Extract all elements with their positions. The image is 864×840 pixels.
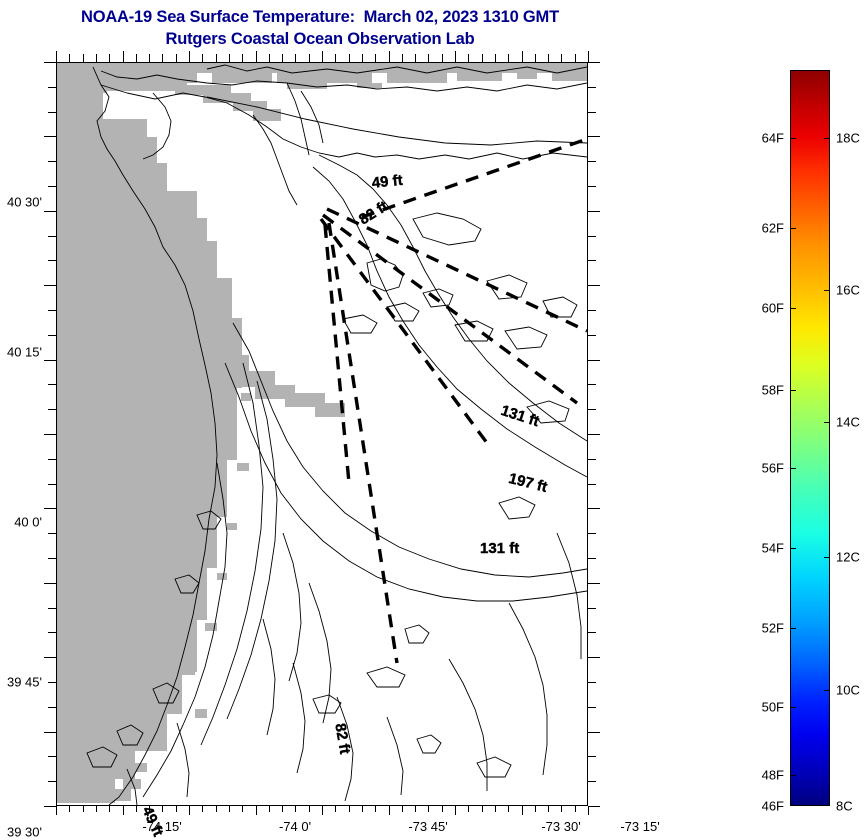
axis-tick [162,54,163,62]
axis-tick [44,657,56,658]
colorbar-tick [824,422,830,423]
page-subtitle: Rutgers Coastal Ocean Observation Lab [0,28,640,50]
axis-tick [48,310,56,311]
y-axis-label: 40 15' [0,345,42,360]
colorbar-tick [824,290,830,291]
colorbar-tick [790,775,796,776]
axis-tick [48,533,56,534]
colorbar-label-fahrenheit: 46F [762,799,784,814]
axis-tick [48,632,56,633]
colorbar-label-fahrenheit: 64F [762,131,784,146]
axis-tick [48,260,56,261]
axis-tick [588,707,596,708]
axis-tick [495,54,496,62]
axis-tick [48,186,56,187]
axis-tick [588,186,596,187]
axis-tick [69,806,70,812]
axis-tick [176,54,177,62]
axis-tick [442,54,443,62]
axis-tick [588,260,596,261]
axis-tick [561,806,562,812]
colorbar-label-fahrenheit: 50F [762,700,784,715]
axis-tick [508,54,509,62]
axis-tick [548,54,549,62]
axis-tick [588,161,596,162]
axis-tick [48,161,56,162]
axis-tick [295,54,296,62]
axis-tick [455,806,456,815]
axis-tick [269,54,270,62]
colorbar-label-fahrenheit: 56F [762,461,784,476]
axis-tick [162,806,163,812]
axis-tick [588,657,600,658]
axis-tick [83,806,84,812]
axis-tick [48,608,56,609]
axis-tick [468,54,469,62]
axis-tick [256,806,257,815]
axis-tick [44,434,56,435]
axis-tick [588,508,600,509]
axis-tick [535,54,536,62]
axis-tick [402,54,403,62]
axis-tick [522,806,523,815]
axis-tick [229,54,230,62]
colorbar-label-fahrenheit: 58F [762,383,784,398]
axis-tick [44,136,56,137]
axis-tick [176,806,177,812]
page-title: NOAA-19 Sea Surface Temperature: March 0… [0,6,640,28]
axis-tick [588,732,600,733]
axis-tick [48,87,56,88]
colorbar-label-celsius: 12C [836,550,860,565]
axis-tick [389,806,390,815]
colorbar-label-celsius: 18C [836,131,860,146]
axis-tick [375,806,376,812]
axis-tick [216,54,217,62]
axis-tick [309,54,310,62]
axis-tick [415,54,416,62]
axis-tick [588,310,596,311]
colorbar-legend[interactable]: 64F62F60F58F56F54F52F50F48F46F 18C16C14C… [790,70,830,806]
axis-tick [588,112,596,113]
axis-tick [56,806,57,815]
axis-tick [322,51,323,62]
colorbar-tick [790,308,796,309]
axis-tick [44,211,56,212]
colorbar-tick [790,468,796,469]
axis-tick [44,285,56,286]
screenshot-root: NOAA-19 Sea Surface Temperature: March 0… [0,0,864,832]
axis-tick [48,484,56,485]
axis-tick [588,409,596,410]
axis-tick [282,54,283,62]
axis-tick [415,806,416,812]
y-axis-label: 39 30' [0,825,42,840]
axis-tick [588,484,596,485]
axis-tick [588,608,596,609]
axis-tick [362,806,363,812]
axis-tick [482,54,483,62]
axis-tick [482,806,483,812]
colorbar-label-celsius: 10C [836,683,860,698]
axis-tick [48,335,56,336]
y-axis-label: 40 0' [0,515,42,530]
axis-tick [575,54,576,62]
axis-tick [83,54,84,62]
axis-tick [44,806,56,807]
colorbar-tick [790,628,796,629]
axis-tick [202,54,203,62]
axis-tick [229,806,230,812]
axis-tick [588,533,596,534]
axis-tick [256,51,257,62]
axis-tick [123,806,124,815]
chart-title-block: NOAA-19 Sea Surface Temperature: March 0… [0,6,640,50]
axis-tick [588,236,596,237]
axis-tick [123,51,124,62]
axis-tick [575,806,576,812]
axis-tick [44,62,56,63]
axis-tick [362,54,363,62]
depth-contour-label: 49 ft [371,172,403,192]
colorbar-label-celsius: 16C [836,283,860,298]
axis-tick [588,384,596,385]
axis-tick [189,806,190,815]
axis-tick [322,806,323,815]
colorbar-tick [790,548,796,549]
colorbar-label-fahrenheit: 60F [762,301,784,316]
axis-tick [309,806,310,812]
axis-tick [588,285,600,286]
colorbar-tick [824,690,830,691]
sst-map[interactable] [56,62,588,806]
axis-tick [588,62,600,63]
colorbar-label-celsius: 8C [836,799,853,814]
axis-tick [48,459,56,460]
axis-tick [242,54,243,62]
axis-tick [588,87,596,88]
axis-tick [588,136,600,137]
axis-tick [588,335,596,336]
axis-tick [588,632,596,633]
axis-tick [588,781,596,782]
axis-tick [96,806,97,812]
axis-tick [48,682,56,683]
axis-tick [335,806,336,812]
map-canvas [57,63,587,805]
axis-tick [468,806,469,812]
axis-tick [442,806,443,812]
axis-tick [48,707,56,708]
axis-tick [189,51,190,62]
axis-tick [588,459,596,460]
axis-tick [44,732,56,733]
axis-tick [202,806,203,812]
axis-tick [508,806,509,812]
axis-tick [375,54,376,62]
y-axis-label: 39 45' [0,675,42,690]
axis-tick [109,54,110,62]
colorbar-tick [790,138,796,139]
axis-tick [588,806,600,807]
axis-tick [588,51,589,62]
axis-tick [335,54,336,62]
colorbar-label-fahrenheit: 62F [762,221,784,236]
colorbar-label-fahrenheit: 52F [762,621,784,636]
axis-tick [48,409,56,410]
colorbar-tick [790,390,796,391]
axis-tick [588,682,596,683]
axis-tick [48,112,56,113]
axis-tick [349,806,350,812]
axis-tick [136,806,137,812]
axis-tick [48,384,56,385]
colorbar-tick [790,707,796,708]
axis-tick [428,54,429,62]
axis-tick [96,54,97,62]
axis-tick [44,583,56,584]
axis-tick [588,583,600,584]
axis-tick [389,51,390,62]
colorbar-tick [824,138,830,139]
colorbar-label-fahrenheit: 48F [762,768,784,783]
axis-tick [402,806,403,812]
axis-tick [588,558,596,559]
axis-tick [522,51,523,62]
axis-tick [349,54,350,62]
depth-contour-label: 131 ft [480,540,519,557]
axis-tick [588,211,600,212]
colorbar-label-celsius: 14C [836,415,860,430]
axis-tick [535,806,536,812]
colorbar-tick [790,228,796,229]
axis-tick [588,756,596,757]
axis-tick [428,806,429,812]
axis-tick [136,54,137,62]
axis-tick [48,558,56,559]
axis-tick [69,54,70,62]
colorbar-tick [824,557,830,558]
axis-tick [56,51,57,62]
colorbar-label-fahrenheit: 54F [762,541,784,556]
y-axis-label: 40 30' [0,195,42,210]
axis-tick [44,508,56,509]
axis-tick [588,806,589,815]
axis-tick [588,360,600,361]
axis-tick [242,806,243,812]
colorbar-gradient[interactable] [790,70,830,806]
axis-tick [561,54,562,62]
axis-tick [269,806,270,812]
axis-tick [109,806,110,812]
axis-tick [149,54,150,62]
axis-tick [216,806,217,812]
axis-tick [295,806,296,812]
axis-tick [588,434,600,435]
axis-tick [282,806,283,812]
axis-tick [495,806,496,812]
axis-tick [455,51,456,62]
axis-tick [48,756,56,757]
axis-tick [48,781,56,782]
axis-tick [548,806,549,812]
axis-tick [48,236,56,237]
axis-tick [44,360,56,361]
